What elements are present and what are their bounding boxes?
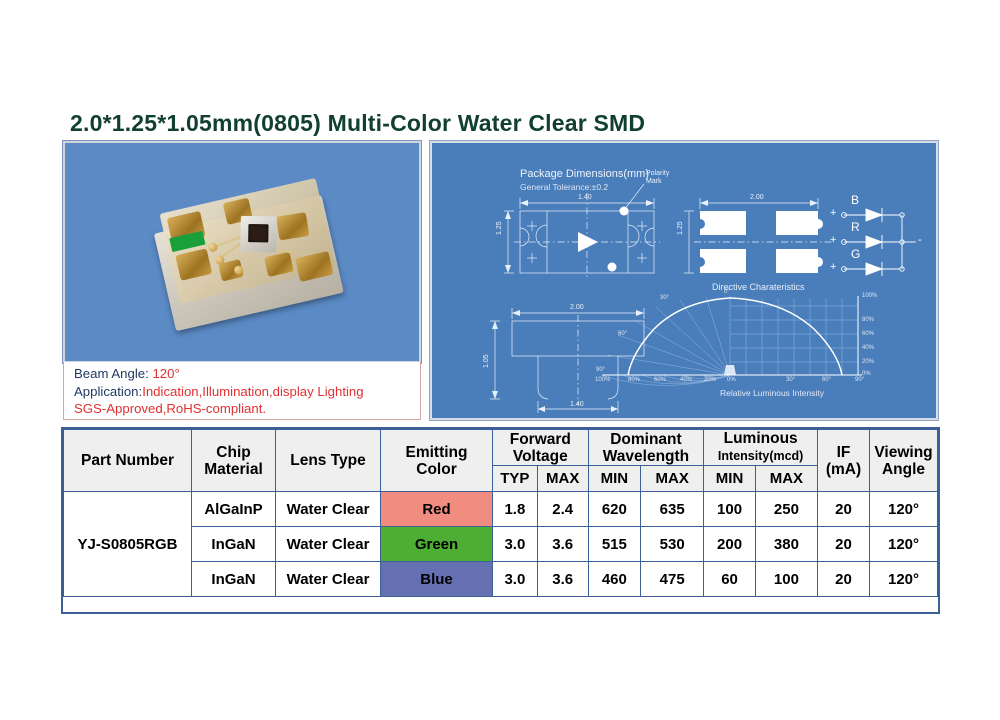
chart-pct-right-0: 0% (862, 371, 871, 377)
chart-angle-tick-0: 0° (724, 289, 730, 295)
beam-angle-value: 120° (152, 366, 179, 381)
chart-angle-tick-30: 30° (786, 377, 795, 383)
cell-if-typ: 20 (818, 492, 870, 527)
header-chip-material: ChipMaterial (192, 430, 276, 492)
header-dominant-wavelength: DominantWavelength (588, 430, 704, 466)
table-row: InGaN Water Clear Blue 3.0 3.6 460 475 6… (64, 562, 938, 597)
top-view-height-dim: 1.25 (496, 221, 503, 235)
chart-angle-tick-90: 90° (855, 377, 864, 383)
product-photo-image (65, 143, 419, 361)
table-header: Part Number ChipMaterial Lens Type Emitt… (64, 430, 938, 492)
chart-pct-bottom-60: 60% (654, 377, 666, 383)
beam-angle-label: Beam Angle: (74, 366, 152, 381)
cell-wl-max: 475 (641, 562, 704, 597)
cell-vf-typ: 1.8 (493, 492, 538, 527)
pad-view-height-dim: 1.25 (677, 221, 684, 235)
cell-viewing-angle: 120° (870, 562, 938, 597)
cell-vf-max: 3.6 (537, 562, 588, 597)
table-body: YJ-S0805RGB AlGaInP Water Clear Red 1.8 … (64, 492, 938, 597)
beam-angle-line: Beam Angle: 120° (74, 365, 414, 383)
cell-chip-material: InGaN (192, 527, 276, 562)
gold-pad (175, 248, 212, 281)
photo-caption: Beam Angle: 120° Application:Indication,… (63, 362, 421, 420)
cell-vf-max: 3.6 (537, 527, 588, 562)
chart-pct-right-80: 80% (862, 317, 874, 323)
cell-lum-min: 200 (704, 527, 756, 562)
chart-pct-bottom-100: 100% (595, 377, 610, 383)
subheader-wl-min: MIN (588, 466, 640, 492)
compliance-line: SGS-Approved,RoHS-compliant. (74, 400, 414, 418)
relative-luminous-intensity-label: Relative Luminous Intensity (720, 388, 824, 398)
cell-wl-min: 620 (588, 492, 640, 527)
header-if-ma: IF(mA) (818, 430, 870, 492)
page-title: 2.0*1.25*1.05mm(0805) Multi-Color Water … (70, 110, 645, 137)
application-label: Application: (74, 384, 142, 399)
bond-ball (207, 242, 218, 253)
gold-pad (264, 252, 294, 277)
header-lens-type: Lens Type (276, 430, 381, 492)
header-emitting-color: EmittingColor (381, 430, 493, 492)
cell-viewing-angle: 120° (870, 527, 938, 562)
product-photo-panel (63, 141, 421, 363)
cell-lum-max: 100 (755, 562, 817, 597)
compliance-text: SGS-Approved,RoHS-compliant. (74, 401, 266, 416)
cell-lens-type: Water Clear (276, 492, 381, 527)
cell-lum-min: 60 (704, 562, 756, 597)
cell-chip-material: InGaN (192, 562, 276, 597)
chart-pct-bottom-20: 20% (704, 377, 716, 383)
table-header-row-1: Part Number ChipMaterial Lens Type Emitt… (64, 430, 938, 466)
cell-emitting-color: Green (381, 527, 493, 562)
cell-wl-max: 530 (641, 527, 704, 562)
diode-label-r: R (851, 220, 860, 234)
cell-vf-typ: 3.0 (493, 527, 538, 562)
side-view-height-dim: 1.05 (483, 354, 490, 368)
chart-pct-bottom-40: 40% (680, 377, 692, 383)
chart-pct-bottom-80: 80% (628, 377, 640, 383)
cell-lum-max: 380 (755, 527, 817, 562)
chart-left-angle-tick-30: 30° (660, 295, 669, 301)
header-viewing-angle: ViewingAngle (870, 430, 938, 492)
chart-left-angle-tick-90: 90° (596, 367, 605, 373)
cell-emitting-color: Blue (381, 562, 493, 597)
cell-chip-material: AlGaInP (192, 492, 276, 527)
anode-sign-g: + (830, 261, 836, 273)
cell-lum-max: 250 (755, 492, 817, 527)
subheader-lum-min: MIN (704, 466, 756, 492)
technical-drawing-panel: Package Dimensions(mm) General Tolerance… (430, 141, 938, 420)
side-view-top-width-dim: 2.00 (570, 304, 584, 311)
chart-pct-bottom-0: 0% (727, 377, 736, 383)
header-forward-voltage: ForwardVoltage (493, 430, 589, 466)
led-die (248, 224, 268, 242)
side-view-bottom-width-dim: 1.40 (570, 401, 584, 408)
chart-pct-right-20: 20% (862, 359, 874, 365)
cell-vf-max: 2.4 (537, 492, 588, 527)
cathode-sign: - (918, 234, 922, 246)
chart-angle-tick-60: 60° (822, 377, 831, 383)
cell-lens-type: Water Clear (276, 562, 381, 597)
chart-pct-right-100: 100% (862, 293, 877, 299)
table-row: InGaN Water Clear Green 3.0 3.6 515 530 … (64, 527, 938, 562)
cell-wl-min: 515 (588, 527, 640, 562)
polarity-mark-label: PolarityMark (646, 170, 669, 186)
pad-view-width-dim: 2.00 (750, 194, 764, 201)
cell-if-typ: 20 (818, 562, 870, 597)
cell-emitting-color: Red (381, 492, 493, 527)
anode-sign-b: + (830, 207, 836, 219)
chart-left-angle-tick-60: 60° (618, 331, 627, 337)
diode-label-b: B (851, 193, 859, 207)
subheader-vf-typ: TYP (493, 466, 538, 492)
cell-wl-max: 635 (641, 492, 704, 527)
gold-pad (276, 212, 309, 240)
subheader-wl-max: MAX (641, 466, 704, 492)
diode-label-g: G (851, 247, 860, 261)
cell-lum-min: 100 (704, 492, 756, 527)
specification-table: Part Number ChipMaterial Lens Type Emitt… (63, 429, 938, 597)
cell-wl-min: 460 (588, 562, 640, 597)
table-row: YJ-S0805RGB AlGaInP Water Clear Red 1.8 … (64, 492, 938, 527)
cell-vf-typ: 3.0 (493, 562, 538, 597)
header-part-number: Part Number (64, 430, 192, 492)
anode-sign-r: + (830, 234, 836, 246)
datasheet-page: 2.0*1.25*1.05mm(0805) Multi-Color Water … (0, 0, 1000, 720)
chart-pct-right-60: 60% (862, 331, 874, 337)
cell-viewing-angle: 120° (870, 492, 938, 527)
led-component-illustration (150, 177, 348, 333)
cell-if-typ: 20 (818, 527, 870, 562)
header-luminous-intensity: LuminousIntensity(mcd) (704, 430, 818, 466)
subheader-vf-max: MAX (537, 466, 588, 492)
cell-part-number: YJ-S0805RGB (64, 492, 192, 597)
application-line: Application:Indication,Illumination,disp… (74, 383, 414, 401)
top-view-width-dim: 1.40 (578, 194, 592, 201)
subheader-lum-max: MAX (755, 466, 817, 492)
chart-pct-right-40: 40% (862, 345, 874, 351)
cell-lens-type: Water Clear (276, 527, 381, 562)
application-value: Indication,Illumination,display Lighting (142, 384, 363, 399)
